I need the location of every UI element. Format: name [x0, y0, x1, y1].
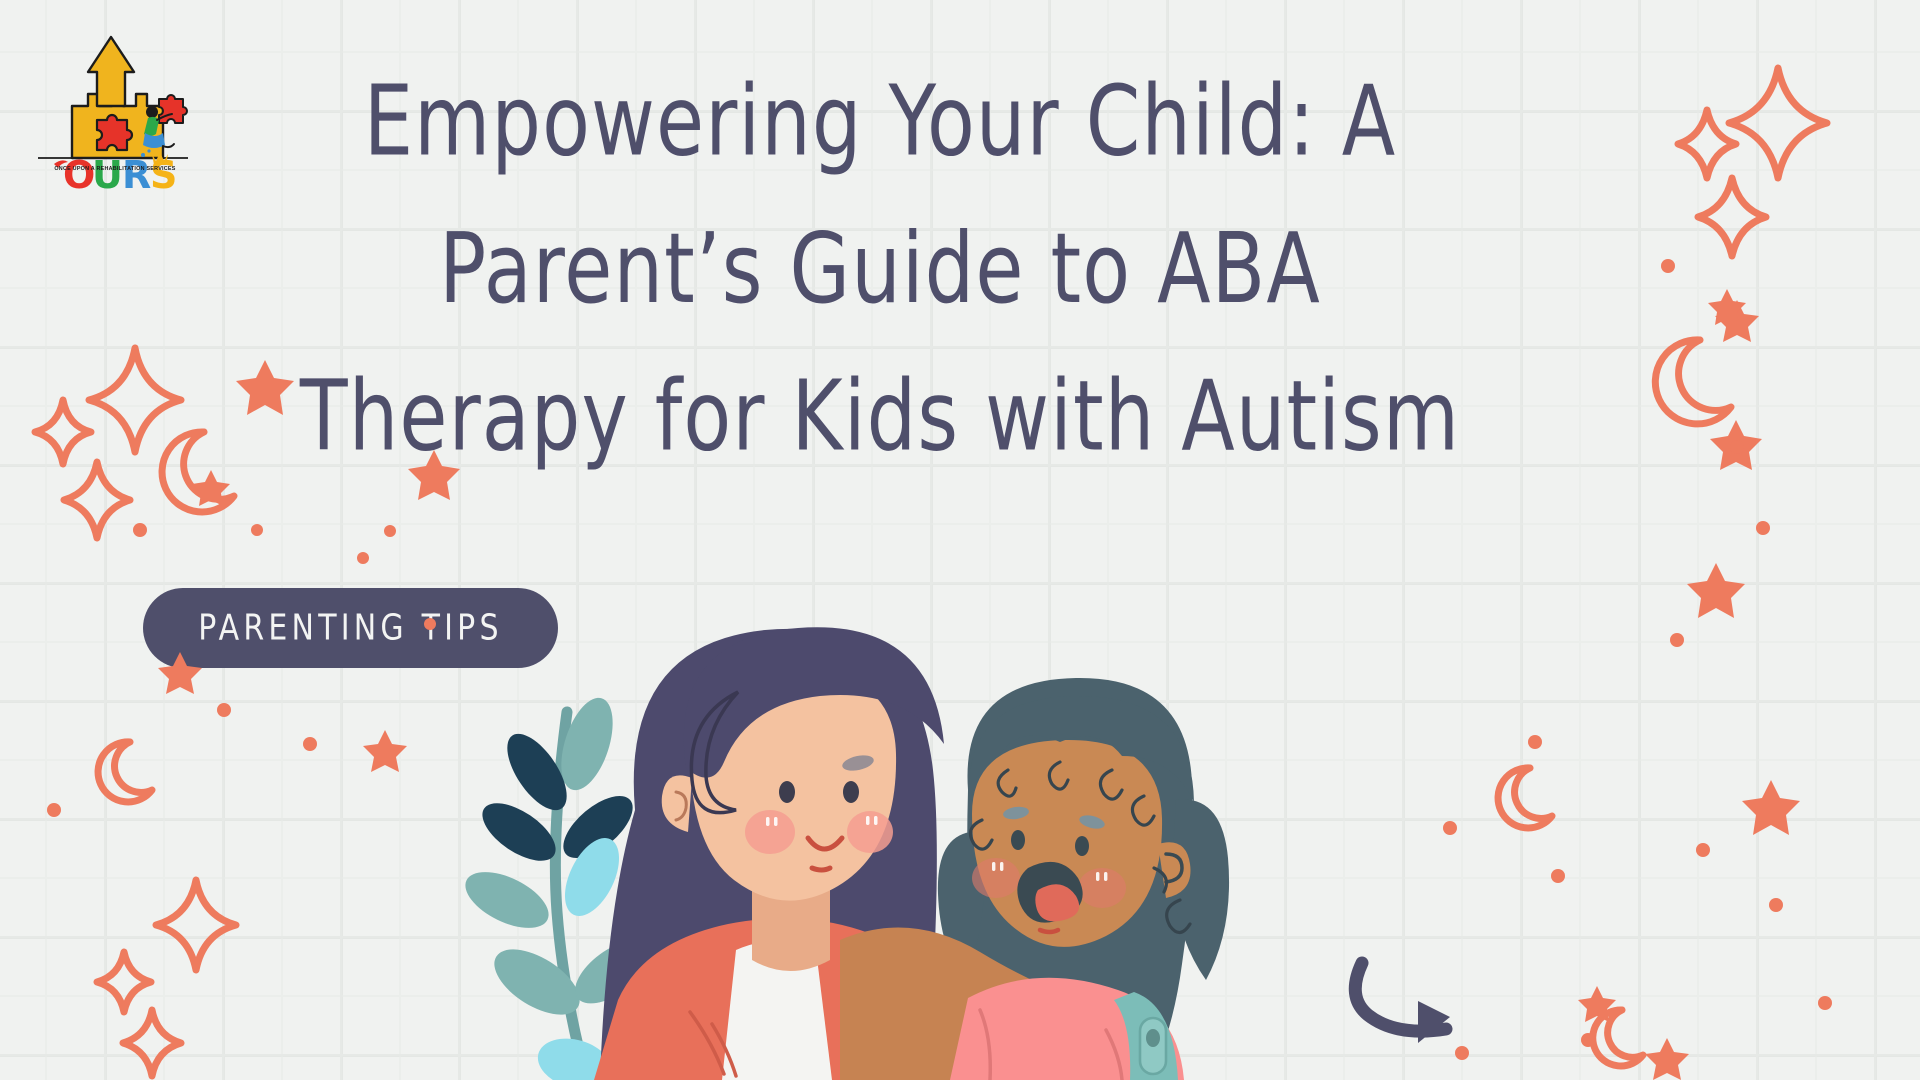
dot-icon [47, 803, 61, 817]
dot-icon [1818, 996, 1832, 1010]
people-illustration [540, 600, 1360, 1080]
mother-cheek-left [745, 810, 795, 854]
star-icon [1715, 300, 1759, 342]
arrow-artwork [1340, 955, 1470, 1055]
sparkle-four-point-icon [1729, 68, 1827, 178]
sparkle-four-point-icon [35, 400, 91, 464]
sparkle-four-point-icon [156, 880, 236, 970]
child-eye-right [1075, 836, 1089, 856]
mother-neck [752, 890, 830, 971]
sparkle-four-point-icon [1698, 178, 1766, 256]
star-icon [1708, 289, 1746, 325]
child-eye-left [1011, 830, 1025, 850]
curved-arrow-icon [1340, 955, 1470, 1055]
dot-icon [1696, 843, 1710, 857]
star-icon [1742, 780, 1800, 835]
page-title: Empowering Your Child: A Parent’s Guide … [294, 48, 1466, 490]
dot-icon [1443, 821, 1457, 835]
dot-icon [384, 525, 396, 537]
crescent-moon-icon [98, 742, 152, 802]
dot-icon [1581, 1033, 1595, 1047]
mother-and-child-illustration [540, 600, 1360, 1080]
category-badge-label: PARENTING TIPS [198, 607, 502, 648]
category-badge[interactable]: PARENTING TIPS [143, 588, 558, 668]
puzzle-piece-icon [97, 115, 132, 150]
logo-tagline: ONCE UPON A REHABILITATION SERVICES [35, 166, 195, 172]
star-icon [1645, 1038, 1689, 1080]
mother-eye-right [843, 781, 859, 803]
crescent-moon-icon [162, 432, 234, 512]
star-icon [363, 730, 407, 772]
child-cheek-left [972, 858, 1020, 898]
dot-icon [1551, 869, 1565, 883]
dot-icon [1528, 735, 1542, 749]
star-icon [236, 360, 294, 415]
mother-eye-left [779, 781, 795, 803]
crescent-moon-icon [1655, 340, 1731, 424]
star-icon [1687, 563, 1745, 618]
dot-icon [1730, 440, 1744, 454]
star-icon [1578, 986, 1616, 1022]
dot-icon [1756, 521, 1770, 535]
star-icon [192, 470, 230, 506]
child-cheek-right [1078, 868, 1126, 908]
mother-nose [812, 868, 830, 870]
dot-icon [217, 703, 231, 717]
banner-canvas: O U R S ONCE UPON A REHABILITATION SERVI… [0, 0, 1920, 1080]
child-chin-line [1040, 930, 1058, 932]
puzzle-piece-small-icon [159, 95, 187, 123]
dot-icon [133, 523, 147, 537]
dot-icon [357, 552, 369, 564]
dot-icon [1769, 898, 1783, 912]
sparkle-four-point-icon [97, 952, 151, 1012]
dot-icon [1670, 633, 1684, 647]
dot-icon [303, 737, 317, 751]
dot-icon [1661, 259, 1675, 273]
sparkle-four-point-icon [1678, 110, 1736, 178]
crescent-moon-icon [1498, 768, 1552, 828]
mother-cheek-right [847, 811, 893, 853]
sparkle-four-point-icon [123, 1010, 181, 1076]
dot-icon [251, 524, 263, 536]
sparkle-four-point-icon [64, 462, 130, 538]
star-icon [1710, 420, 1762, 470]
sparkle-four-point-icon [89, 348, 181, 452]
crescent-moon-icon [1593, 1010, 1643, 1066]
